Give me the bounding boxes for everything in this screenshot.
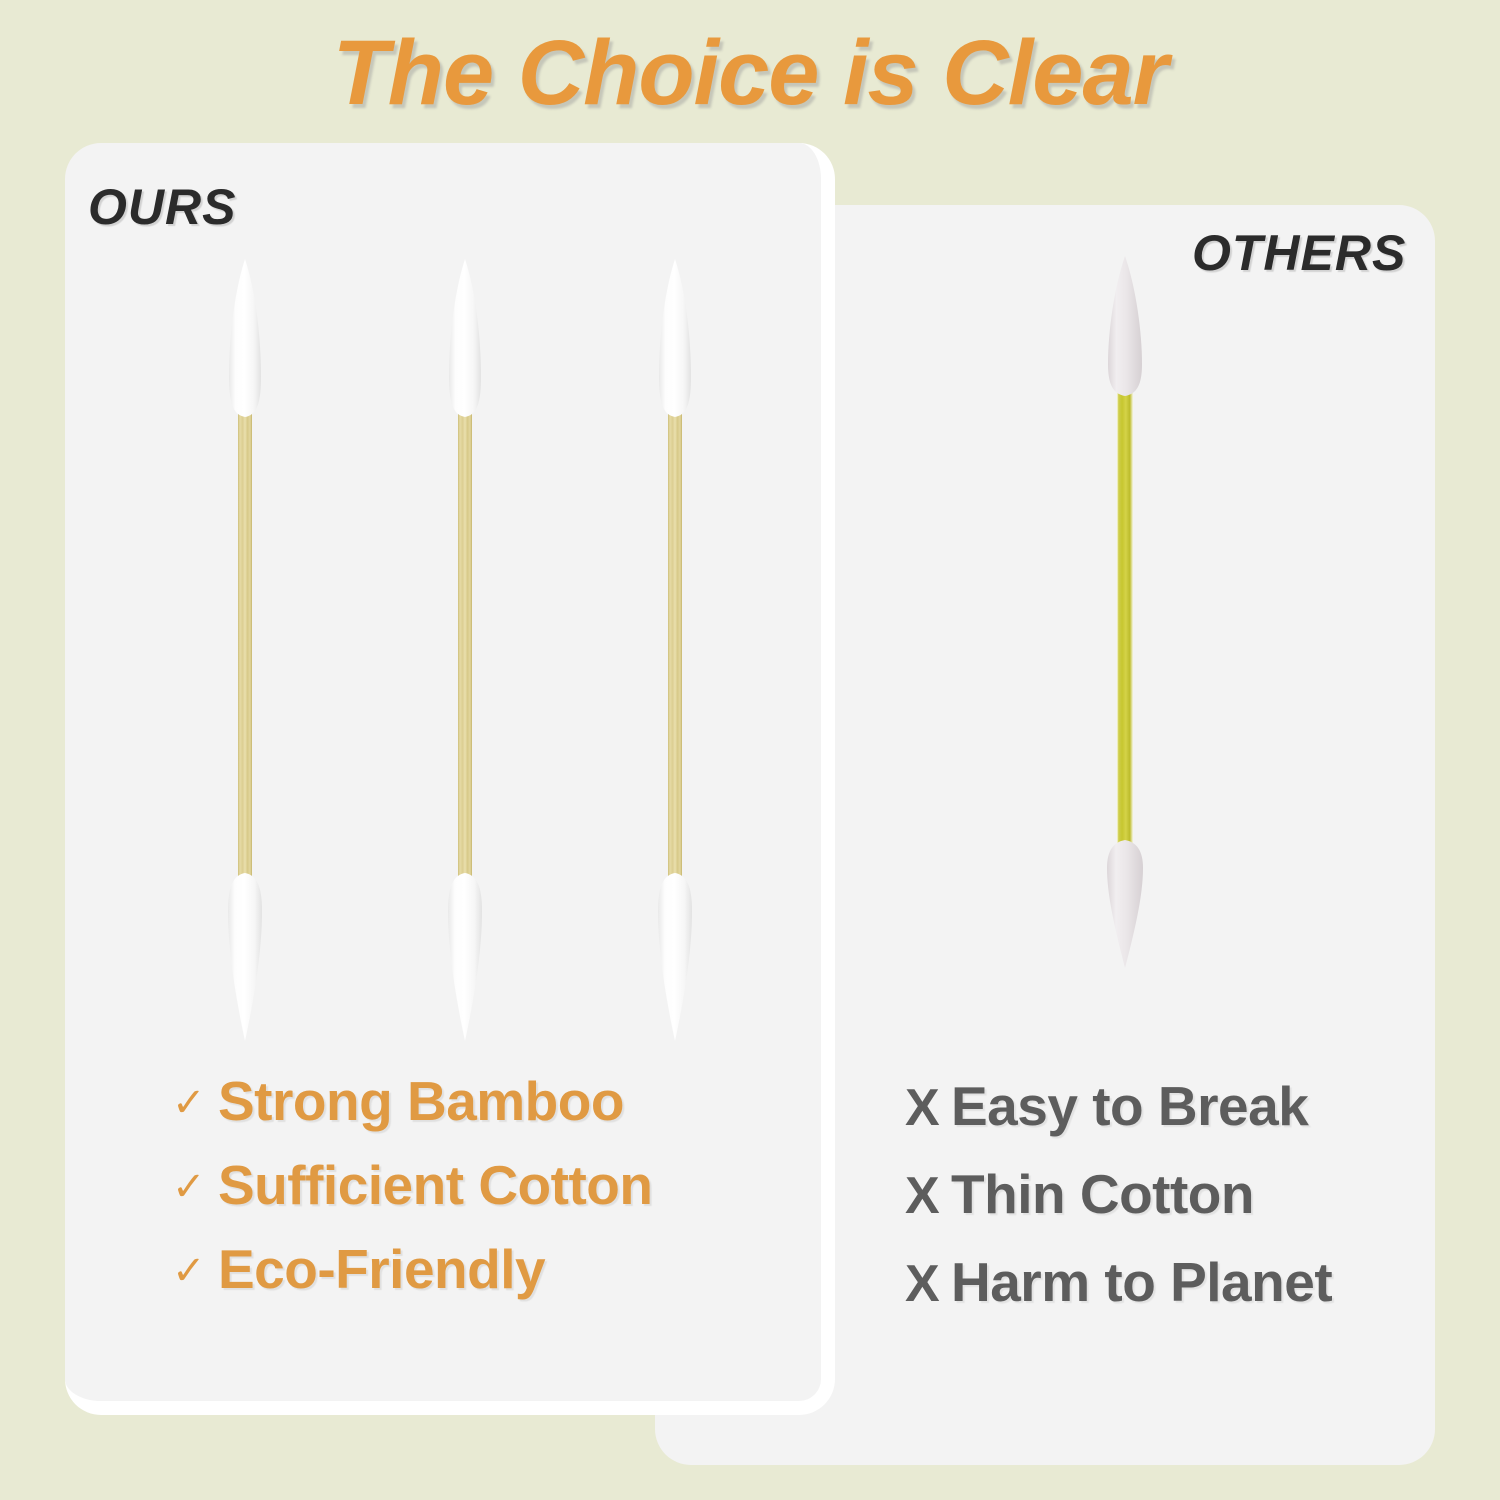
ours-feature-list: ✓ Strong Bamboo ✓ Sufficient Cotton ✓ Ec…	[172, 1068, 652, 1320]
list-item: X Harm to Planet	[905, 1249, 1332, 1315]
list-item: ✓ Sufficient Cotton	[172, 1152, 652, 1218]
check-icon: ✓	[172, 1251, 218, 1291]
cross-icon: X	[905, 1170, 951, 1222]
list-item: X Thin Cotton	[905, 1161, 1332, 1227]
list-item: ✓ Strong Bamboo	[172, 1068, 652, 1134]
list-item-label: Strong Bamboo	[218, 1068, 624, 1134]
others-feature-list: X Easy to Break X Thin Cotton X Harm to …	[905, 1073, 1332, 1337]
list-item-label: Harm to Planet	[951, 1249, 1332, 1315]
bamboo-swab-3	[625, 255, 725, 1045]
list-item-label: Easy to Break	[951, 1073, 1308, 1139]
check-icon: ✓	[172, 1167, 218, 1207]
cross-icon: X	[905, 1258, 951, 1310]
list-item-label: Thin Cotton	[951, 1161, 1254, 1227]
plastic-swab-1	[1080, 252, 1170, 972]
list-item: ✓ Eco-Friendly	[172, 1236, 652, 1302]
infographic-canvas: The Choice is Clear OURS OTHERS	[0, 0, 1500, 1500]
ours-label: OURS	[88, 178, 236, 236]
list-item-label: Sufficient Cotton	[218, 1152, 652, 1218]
bamboo-swab-2	[415, 255, 515, 1045]
check-icon: ✓	[172, 1083, 218, 1123]
bamboo-swab-1	[195, 255, 295, 1045]
list-item-label: Eco-Friendly	[218, 1236, 545, 1302]
list-item: X Easy to Break	[905, 1073, 1332, 1139]
page-title: The Choice is Clear	[0, 18, 1500, 128]
cross-icon: X	[905, 1082, 951, 1134]
others-label: OTHERS	[1192, 224, 1406, 282]
